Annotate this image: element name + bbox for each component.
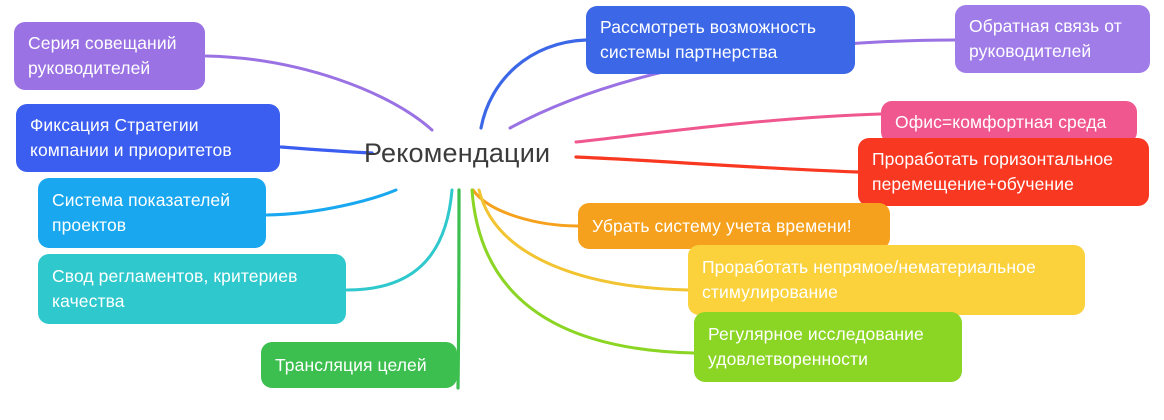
conn-remove-time-tracking bbox=[473, 190, 578, 226]
node-strategy-fixation[interactable]: Фиксация Стратегии компании и приоритето… bbox=[16, 104, 280, 172]
center-topic-label: Рекомендации bbox=[364, 140, 550, 167]
conn-goals-broadcast bbox=[458, 190, 459, 388]
node-horizontal-movement[interactable]: Проработать горизонтальное перемещение+о… bbox=[858, 138, 1149, 206]
node-leaders-feedback[interactable]: Обратная связь от руководителей bbox=[955, 5, 1150, 73]
node-regulations-set[interactable]: Свод регламентов, критериев качества bbox=[38, 254, 346, 324]
node-series-meetings[interactable]: Серия совещаний руководителей bbox=[14, 22, 205, 90]
conn-horizontal-movement bbox=[576, 157, 858, 172]
conn-office-comfort bbox=[576, 114, 881, 142]
conn-partnership-system bbox=[481, 40, 586, 128]
node-project-metrics[interactable]: Система показателей проектов bbox=[38, 178, 266, 248]
node-satisfaction-research[interactable]: Регулярное исследование удовлетворенност… bbox=[694, 312, 962, 382]
node-remove-time-tracking[interactable]: Убрать систему учета времени! bbox=[578, 203, 890, 249]
conn-regulations-set bbox=[347, 190, 452, 290]
node-office-comfort[interactable]: Офис=комфортная среда bbox=[881, 101, 1137, 143]
node-partnership-system[interactable]: Рассмотреть возможность системы партнерс… bbox=[586, 6, 855, 74]
conn-strategy-fixation bbox=[281, 147, 372, 153]
conn-project-metrics bbox=[267, 190, 396, 215]
node-goals-broadcast[interactable]: Трансляция целей bbox=[261, 342, 457, 388]
mindmap-canvas: Рекомендации Серия совещаний руководител… bbox=[0, 0, 1164, 420]
node-indirect-motivation[interactable]: Проработать непрямое/нематериальное стим… bbox=[688, 245, 1085, 315]
